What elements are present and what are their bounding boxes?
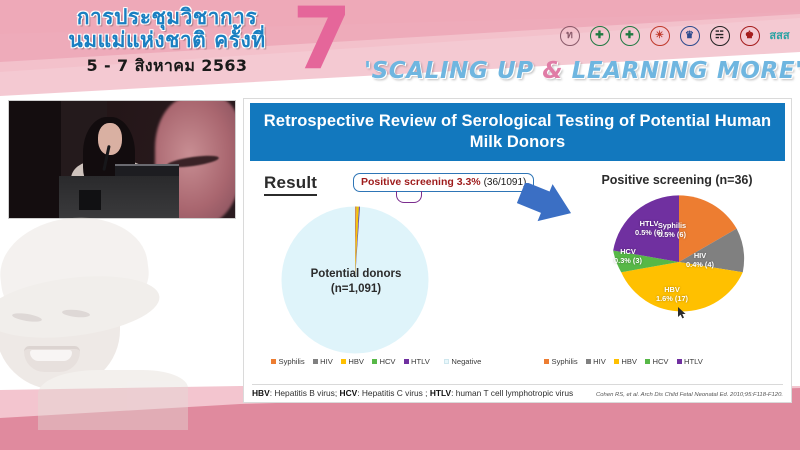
legend-item-syphilis: Syphilis bbox=[544, 357, 578, 366]
sponsor-logo-1-icon: ท bbox=[557, 22, 582, 50]
pie-label-hcv-value: 0.3% (3) bbox=[608, 256, 648, 265]
abbrev-hcv: HCV bbox=[340, 388, 358, 398]
presenter-video-feed[interactable] bbox=[8, 100, 236, 219]
callout-leader-line bbox=[396, 191, 422, 203]
potential-donors-center-label: Potential donors (n=1,091) bbox=[272, 267, 440, 297]
legend-swatch-syphilis bbox=[271, 359, 276, 364]
legend-label-syphilis: Syphilis bbox=[279, 357, 305, 366]
legend-item-htlv: HTLV bbox=[677, 357, 703, 366]
logo-disc: สสส bbox=[770, 26, 790, 46]
edition-number: 7 bbox=[292, 0, 350, 82]
positive-screening-pie-title: Positive screening (n=36) bbox=[564, 173, 790, 187]
presentation-slide: Retrospective Review of Serological Test… bbox=[243, 98, 792, 403]
legend-label-hiv: HIV bbox=[320, 357, 333, 366]
slide-title: Retrospective Review of Serological Test… bbox=[250, 103, 785, 161]
logo-disc: ✚ bbox=[590, 26, 610, 46]
sponsor-logo-7-icon: ♚ bbox=[737, 22, 762, 50]
sponsor-logo-6-icon: ☵ bbox=[707, 22, 732, 50]
legend-label-htlv: HTLV bbox=[411, 357, 430, 366]
tagline-ampersand: & bbox=[542, 58, 563, 84]
pie-label-hbv-name: HBV bbox=[649, 285, 695, 294]
slide-footnote: HBV: Hepatitis B virus; HCV: Hepatitis C… bbox=[252, 384, 783, 398]
logo-disc: ท bbox=[560, 26, 580, 46]
mouse-cursor-icon bbox=[678, 307, 687, 319]
legend-item-htlv: HTLV bbox=[404, 357, 430, 366]
tagline-part-2: LEARNING MORE' bbox=[563, 58, 800, 84]
conference-date: 5 - 7 สิงหาคม 2563 bbox=[22, 54, 312, 79]
pie-label-hcv-name: HCV bbox=[608, 247, 648, 256]
legend-swatch-hcv bbox=[645, 359, 650, 364]
sponsor-logo-2-icon: ✚ bbox=[587, 22, 612, 50]
potential-donors-legend: Syphilis HIV HBV HCV HTLV Negative bbox=[271, 357, 481, 366]
legend-item-hcv: HCV bbox=[645, 357, 669, 366]
sponsor-logo-8-icon: สสส bbox=[767, 22, 792, 50]
logo-disc: ✚ bbox=[620, 26, 640, 46]
speaker-face bbox=[98, 123, 122, 155]
conference-thai-title: การประชุมวิชาการ นมแม่แห่งชาติ ครั้งที่ … bbox=[22, 6, 312, 79]
logo-disc: ☀ bbox=[650, 26, 670, 46]
legend-item-negative: Negative bbox=[444, 357, 481, 366]
slideshow-screen: การประชุมวิชาการ นมแม่แห่งชาติ ครั้งที่ … bbox=[0, 0, 800, 450]
legend-item-hbv: HBV bbox=[614, 357, 637, 366]
blue-arrow-icon bbox=[517, 183, 575, 231]
legend-item-hbv: HBV bbox=[341, 357, 364, 366]
conference-tagline: 'SCALING UP & LEARNING MORE' bbox=[364, 58, 792, 84]
abbrev-htlv: HTLV bbox=[430, 388, 451, 398]
baby-watermark-image bbox=[0, 218, 204, 418]
legend-label-hiv: HIV bbox=[593, 357, 606, 366]
sponsor-logo-4-icon: ☀ bbox=[647, 22, 672, 50]
legend-swatch-hiv bbox=[586, 359, 591, 364]
potential-donors-label-line-1: Potential donors bbox=[272, 267, 440, 282]
legend-item-hiv: HIV bbox=[313, 357, 333, 366]
legend-label-hcv: HCV bbox=[652, 357, 668, 366]
pie-label-hiv-name: HIV bbox=[678, 251, 722, 260]
legend-swatch-hbv bbox=[341, 359, 346, 364]
pie-label-htlv-name: HTLV bbox=[627, 219, 671, 228]
sponsor-logo-5-icon: ♛ bbox=[677, 22, 702, 50]
legend-label-hbv: HBV bbox=[348, 357, 364, 366]
legend-label-syphilis: Syphilis bbox=[552, 357, 578, 366]
pie-label-htlv: HTLV 0.5% (6) bbox=[627, 219, 671, 238]
pie-label-hcv: HCV 0.3% (3) bbox=[608, 247, 648, 266]
logo-disc: ☵ bbox=[710, 26, 730, 46]
abbrev-hbv: HBV bbox=[252, 388, 270, 398]
legend-label-hcv: HCV bbox=[379, 357, 395, 366]
thai-title-line-1: การประชุมวิชาการ bbox=[22, 6, 312, 28]
legend-swatch-hiv bbox=[313, 359, 318, 364]
result-heading: Result bbox=[264, 173, 317, 196]
pie-label-hbv: HBV 1.6% (17) bbox=[649, 285, 695, 304]
sponsor-logo-row: ท ✚ ✚ ☀ ♛ ☵ ♚ สสส bbox=[557, 22, 792, 50]
video-wall-left bbox=[9, 101, 61, 219]
legend-swatch-negative bbox=[444, 359, 449, 364]
legend-swatch-syphilis bbox=[544, 359, 549, 364]
legend-swatch-htlv bbox=[404, 359, 409, 364]
pie-label-hbv-value: 1.6% (17) bbox=[649, 294, 695, 303]
logo-disc: ♛ bbox=[680, 26, 700, 46]
legend-label-negative: Negative bbox=[451, 357, 481, 366]
thai-title-line-2: นมแม่แห่งชาติ ครั้งที่ bbox=[22, 29, 312, 51]
legend-label-hbv: HBV bbox=[621, 357, 637, 366]
legend-swatch-htlv bbox=[677, 359, 682, 364]
pie-label-htlv-value: 0.5% (6) bbox=[627, 228, 671, 237]
callout-highlight-text: Positive screening 3.3% bbox=[361, 176, 481, 188]
conference-banner: การประชุมวิชาการ นมแม่แห่งชาติ ครั้งที่ … bbox=[0, 0, 800, 96]
legend-item-syphilis: Syphilis bbox=[271, 357, 305, 366]
baby-teeth bbox=[30, 350, 72, 361]
podium-plate bbox=[79, 190, 101, 210]
legend-label-htlv: HTLV bbox=[684, 357, 703, 366]
pie-label-hiv: HIV 0.4% (4) bbox=[678, 251, 722, 270]
citation-text: Cohen RS, et al. Arch Dis Child Fetal Ne… bbox=[596, 392, 783, 398]
legend-swatch-hcv bbox=[372, 359, 377, 364]
baby-body bbox=[38, 370, 188, 430]
legend-item-hiv: HIV bbox=[586, 357, 606, 366]
abbreviations-text: HBV: Hepatitis B virus; HCV: Hepatitis C… bbox=[252, 388, 573, 398]
pie-label-hiv-value: 0.4% (4) bbox=[678, 260, 722, 269]
legend-swatch-hbv bbox=[614, 359, 619, 364]
legend-item-hcv: HCV bbox=[372, 357, 396, 366]
logo-disc: ♚ bbox=[740, 26, 760, 46]
positive-screening-legend: Syphilis HIV HBV HCV HTLV bbox=[544, 357, 703, 366]
tagline-part-1: 'SCALING UP bbox=[364, 58, 542, 84]
positive-screening-callout: Positive screening 3.3% (36/1091) bbox=[353, 173, 534, 192]
sponsor-logo-3-icon: ✚ bbox=[617, 22, 642, 50]
potential-donors-label-line-2: (n=1,091) bbox=[272, 282, 440, 297]
podium bbox=[59, 176, 179, 218]
